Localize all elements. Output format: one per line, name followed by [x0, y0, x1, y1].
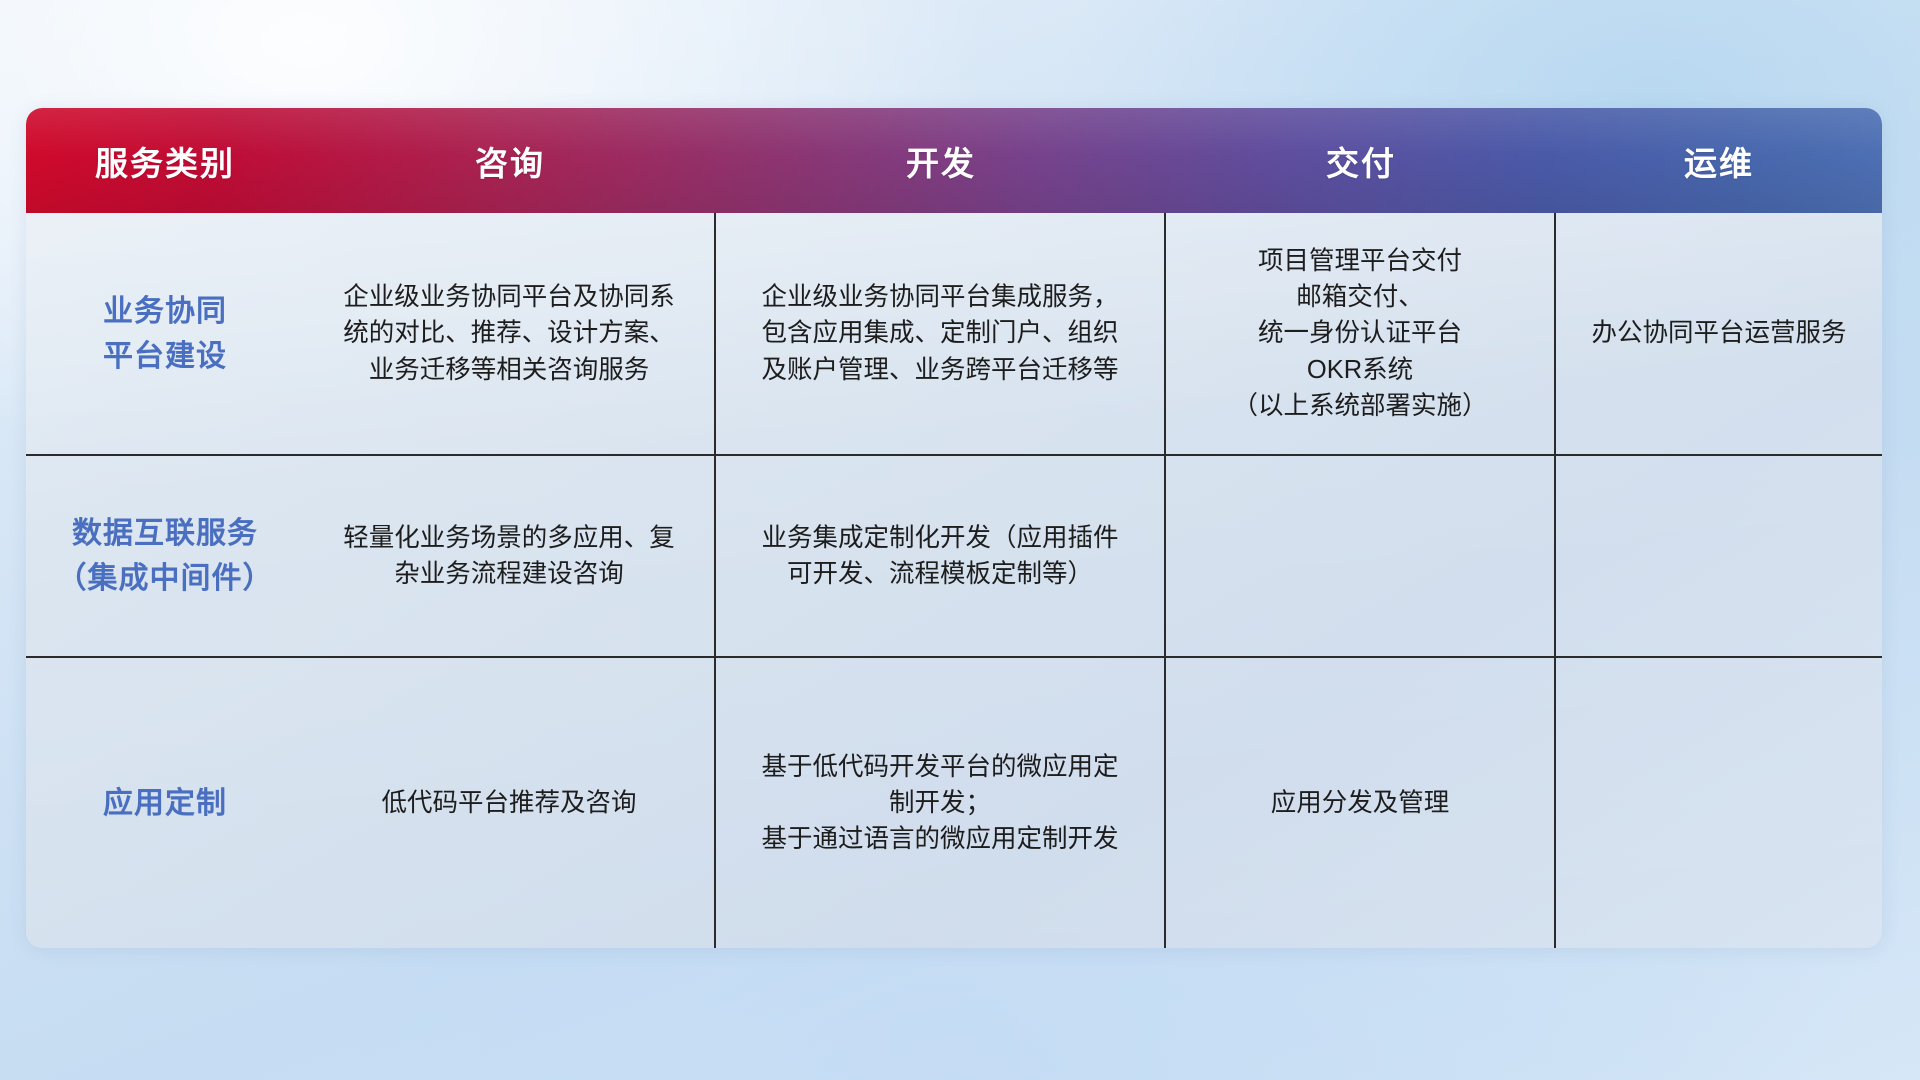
cell-development-row-3: 基于低代码开发平台的微应用定 制开发； 基于通过语言的微应用定制开发: [716, 658, 1166, 948]
cell-delivery-row-2: [1166, 456, 1556, 656]
cell-consulting-row-2: 轻量化业务场景的多应用、复 杂业务流程建设咨询: [304, 456, 716, 656]
table-header-row: 服务类别 咨询 开发 交付 运维: [26, 108, 1882, 213]
cell-operations-row-2: [1556, 456, 1882, 656]
header-cell-delivery: 交付: [1166, 108, 1556, 213]
row-label-business-collaboration: 业务协同 平台建设: [26, 213, 304, 454]
table-body: 业务协同 平台建设 企业级业务协同平台及协同系 统的对比、推荐、设计方案、 业务…: [26, 213, 1882, 948]
service-category-table: 服务类别 咨询 开发 交付 运维 业务协同 平台建设 企业级业务协同平台及协同系…: [26, 108, 1882, 948]
header-cell-consulting: 咨询: [304, 108, 716, 213]
table-row: 应用定制 低代码平台推荐及咨询 基于低代码开发平台的微应用定 制开发； 基于通过…: [26, 658, 1882, 948]
header-cell-development: 开发: [716, 108, 1166, 213]
cell-development-row-1: 企业级业务协同平台集成服务， 包含应用集成、定制门户、组织 及账户管理、业务跨平…: [716, 213, 1166, 454]
cell-development-row-2: 业务集成定制化开发（应用插件 可开发、流程模板定制等）: [716, 456, 1166, 656]
cell-consulting-row-3: 低代码平台推荐及咨询: [304, 658, 716, 948]
cell-delivery-row-1: 项目管理平台交付 邮箱交付、 统一身份认证平台 OKR系统 （以上系统部署实施）: [1166, 213, 1556, 454]
cell-operations-row-1: 办公协同平台运营服务: [1556, 213, 1882, 454]
header-cell-service-category: 服务类别: [26, 108, 304, 213]
cell-operations-row-3: [1556, 658, 1882, 948]
cell-delivery-row-3: 应用分发及管理: [1166, 658, 1556, 948]
row-label-data-interconnection: 数据互联服务 （集成中间件）: [26, 456, 304, 656]
table-row: 业务协同 平台建设 企业级业务协同平台及协同系 统的对比、推荐、设计方案、 业务…: [26, 213, 1882, 456]
row-label-application-customization: 应用定制: [26, 658, 304, 948]
table-row: 数据互联服务 （集成中间件） 轻量化业务场景的多应用、复 杂业务流程建设咨询 业…: [26, 456, 1882, 658]
cell-consulting-row-1: 企业级业务协同平台及协同系 统的对比、推荐、设计方案、 业务迁移等相关咨询服务: [304, 213, 716, 454]
header-cell-operations: 运维: [1556, 108, 1882, 213]
